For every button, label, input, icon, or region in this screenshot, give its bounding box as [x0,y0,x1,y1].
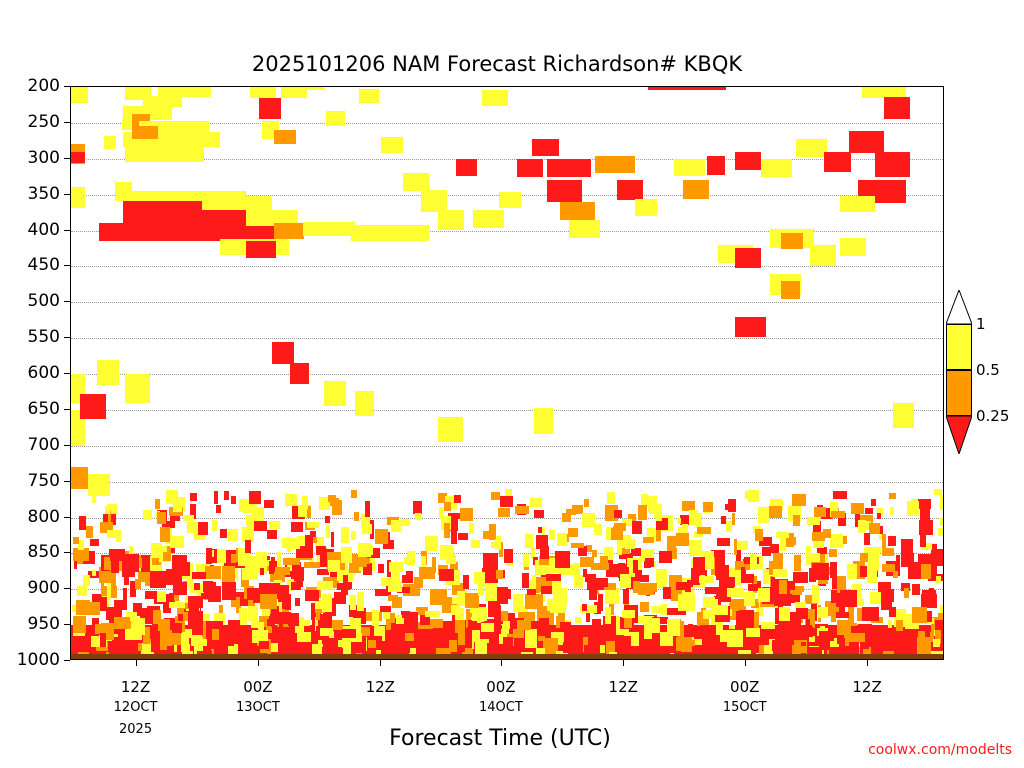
heatmap-cell [438,417,462,442]
heatmap-cell [741,567,745,582]
heatmap-cell [781,281,800,300]
heatmap-cell [303,222,355,236]
heatmap-cell [830,534,843,548]
heatmap-cell [391,623,404,635]
heatmap-cell [365,501,370,517]
heatmap-cell [438,210,464,230]
heatmap-cell [739,610,754,620]
y-tick-label: 750 [0,471,66,491]
heatmap-cell [538,636,546,642]
heatmap-cell [305,535,312,548]
heatmap-cell [840,590,857,607]
heatmap-cell [372,610,379,625]
heatmap-cell [285,594,291,609]
heatmap-cell [381,137,403,153]
heatmap-cell [254,521,267,531]
heatmap-cell [451,530,457,544]
heatmap-cell [890,507,894,515]
heatmap-cell [264,500,274,508]
heatmap-cell [725,504,732,511]
heatmap-cell [758,507,769,522]
heatmap-cell [638,584,654,595]
heatmap-cell [589,587,598,600]
heatmap-cell [534,408,553,433]
heatmap-cell [865,508,873,514]
heatmap-cell [463,575,469,588]
heatmap-cell [808,553,820,562]
x-tick-label: 12Z [366,678,395,696]
heatmap-cell [812,585,818,603]
heatmap-cell [770,544,778,553]
heatmap-cell [274,567,290,574]
heatmap-cell [454,495,462,503]
heatmap-cell [92,570,96,576]
heatmap-cell [697,527,711,534]
heatmap-cell [122,554,139,571]
colorbar-tick-label: 1 [976,315,986,333]
heatmap-cell [358,543,371,558]
heatmap-cell [322,502,331,510]
heatmap-cell [357,592,365,611]
heatmap-cell [502,589,511,599]
heatmap-cell [657,577,665,587]
heatmap-cell [847,564,857,579]
heatmap-cell [862,607,879,622]
heatmap-cell [214,640,230,654]
heatmap-cell [205,566,221,579]
heatmap-cell [452,597,461,604]
x-tick-label: 00Z [243,678,272,696]
heatmap-cell [279,620,283,627]
heatmap-cell [129,546,133,554]
heatmap-cell [517,620,531,630]
heatmap-cell [342,629,356,638]
heatmap-cell [214,491,218,503]
heatmap-cell [779,607,790,621]
heatmap-cell [744,592,756,606]
heatmap-cell [632,521,642,535]
heatmap-cell [582,513,595,527]
heatmap-cell [748,490,759,502]
heatmap-cell [546,574,562,580]
x-tick-label: 12Z [852,678,881,696]
heatmap-cell [202,196,272,210]
heatmap-cell [584,499,589,507]
heatmap-cell [781,233,803,249]
heatmap-cell [316,612,320,620]
heatmap-cell [896,555,900,570]
colorbar-bottom-arrow [946,416,972,454]
heatmap-cell [643,537,654,543]
heatmap-cell [594,524,602,536]
heatmap-cell [316,546,326,555]
heatmap-cell [851,503,864,513]
heatmap-cell [326,111,345,125]
heatmap-cell [717,538,730,545]
heatmap-cell [295,598,300,606]
heatmap-cell [187,522,199,533]
heatmap-cell [415,513,422,520]
heatmap-cell [169,602,184,608]
grid-line [71,374,943,376]
heatmap-cell [391,520,401,531]
heatmap-cell [500,611,508,622]
heatmap-cell [920,509,929,521]
heatmap-cell [940,495,944,510]
heatmap-cell [829,549,837,557]
heatmap-cell [499,192,521,208]
y-tick-label: 950 [0,614,66,634]
y-tick-mark [64,230,70,231]
heatmap-cell [889,607,896,617]
heatmap-cell [659,551,672,564]
heatmap-cell [761,159,792,178]
heatmap-cell [843,536,847,544]
heatmap-cell [614,510,622,518]
heatmap-cell [607,492,616,504]
heatmap-cell [473,210,504,228]
x-tick-mark [867,660,868,666]
heatmap-cell [645,558,654,567]
heatmap-cell [893,403,915,428]
heatmap-cell [79,516,86,529]
heatmap-cell [504,549,514,562]
chart-canvas: 2025101206 NAM Forecast Richardson# KBQK… [0,0,1024,768]
heatmap-cell [837,638,842,644]
heatmap-cell [541,586,552,594]
heatmap-cell [525,629,536,647]
heatmap-cell [405,633,413,640]
heatmap-cell [836,612,849,618]
heatmap-cell [934,489,942,495]
y-tick-label: 550 [0,327,66,347]
heatmap-cell [259,98,281,120]
heatmap-cell [274,223,305,239]
heatmap-cell [867,566,877,583]
heatmap-cell [840,238,866,257]
heatmap-cell [809,568,816,582]
heatmap-cell [334,592,346,604]
heatmap-cell [870,592,881,604]
heatmap-cell [936,576,941,582]
heatmap-cell [88,474,110,496]
x-tick-mark [501,660,502,666]
heatmap-cell [917,637,931,653]
y-tick-label: 900 [0,578,66,598]
heatmap-cell [651,618,659,633]
heatmap-cell [600,645,605,654]
heatmap-cell [290,626,295,639]
heatmap-cell [582,604,588,611]
heatmap-cell [388,595,399,601]
heatmap-cell [151,639,159,652]
heatmap-cell [605,588,619,604]
heatmap-cell [138,643,142,651]
heatmap-cell [574,575,583,589]
heatmap-cell [160,527,170,542]
heatmap-cell [132,126,158,139]
heatmap-cell [173,501,182,512]
heatmap-cell [324,381,346,406]
heatmap-cell [111,555,120,573]
colorbar-segment [946,324,972,370]
x-tick-sublabel: 12OCT [114,700,158,715]
heatmap-cell [925,592,931,604]
heatmap-cell [707,156,724,175]
heatmap-cell [680,640,695,647]
heatmap-cell [683,180,709,199]
heatmap-cell [871,499,876,506]
heatmap-cell [107,583,111,600]
grid-line [71,446,943,448]
heatmap-cell [444,523,450,538]
heatmap-cell [788,627,794,645]
heatmap-cell [938,528,944,536]
y-tick-label: 200 [0,76,66,96]
heatmap-cell [555,551,570,569]
heatmap-cell [290,363,309,385]
heatmap-cell [483,553,498,569]
heatmap-cell [648,496,657,511]
colorbar-segment [946,370,972,416]
heatmap-cell [920,532,926,547]
heatmap-cell [888,620,892,628]
heatmap-cell [831,616,836,622]
x-tick-mark [623,660,624,666]
heatmap-cell [595,156,634,173]
heatmap-cell [667,619,680,636]
heatmap-cell [285,494,297,506]
heatmap-cell [478,582,485,596]
heatmap-cell [401,519,410,526]
heatmap-cell [904,588,909,597]
heatmap-cell [552,580,560,593]
heatmap-cell [161,546,167,553]
heatmap-cell [131,618,145,635]
heatmap-cell [550,604,566,614]
heatmap-cell [851,626,867,633]
x-tick-mark [745,660,746,666]
heatmap-cell [105,506,110,514]
heatmap-cell [212,629,219,640]
heatmap-cell [814,507,827,518]
heatmap-cell [375,529,388,543]
heatmap-cell [594,578,608,587]
heatmap-cell [245,540,251,553]
heatmap-cell [331,532,335,547]
heatmap-cell [78,540,84,550]
heatmap-cell [260,568,264,575]
heatmap-cell [444,502,451,511]
grid-line [71,302,943,304]
colorbar-tick-label: 0.25 [976,407,1009,425]
heatmap-cell [935,620,944,630]
heatmap-cell [523,554,528,567]
heatmap-cell [355,391,374,416]
heatmap-cell [341,547,352,563]
heatmap-cell [882,534,886,549]
y-tick-mark [64,337,70,338]
heatmap-cell [726,521,732,531]
y-tick-mark [64,301,70,302]
heatmap-cell [732,513,736,525]
x-tick-sublabel: 15OCT [723,700,767,715]
heatmap-cell [566,509,577,515]
x-tick-sublabel: 14OCT [479,700,523,715]
heatmap-cell [539,618,549,626]
heatmap-cell [888,536,896,546]
heatmap-cell [755,529,763,541]
heatmap-cell [772,640,783,651]
y-tick-mark [64,445,70,446]
y-tick-mark [64,660,70,661]
heatmap-cell [793,515,799,526]
heatmap-cell [407,551,415,564]
heatmap-cell [80,394,106,419]
y-tick-mark [64,194,70,195]
heatmap-cell [864,547,881,553]
heatmap-cell [469,523,475,534]
y-tick-mark [64,517,70,518]
y-tick-mark [64,265,70,266]
ground-band [71,654,943,659]
heatmap-cell [239,608,247,625]
heatmap-cell [860,642,869,649]
heatmap-cell [341,527,349,543]
heatmap-cell [220,529,227,538]
heatmap-cell [328,560,340,572]
heatmap-cell [90,539,99,546]
heatmap-cell [496,570,503,579]
heatmap-cell [703,502,713,512]
heatmap-cell [498,508,510,517]
heatmap-cell [260,594,276,610]
x-tick-mark [258,660,259,666]
heatmap-cell [557,533,567,546]
heatmap-cell [188,596,203,608]
heatmap-cell [83,575,90,585]
heatmap-cell [482,90,508,106]
heatmap-cell [569,220,600,237]
heatmap-cell [727,588,744,597]
heatmap-cell [921,564,931,578]
heatmap-cell [735,317,766,337]
heatmap-cell [192,572,206,579]
heatmap-cell [591,563,608,569]
heatmap-cell [560,202,595,221]
y-tick-label: 400 [0,220,66,240]
heatmap-cell [114,617,130,628]
heatmap-cell [325,516,330,523]
heatmap-cell [111,586,118,598]
heatmap-cell [71,467,88,489]
heatmap-cell [525,534,533,548]
heatmap-cell [73,616,86,633]
heatmap-cell [322,638,338,644]
heatmap-cell [73,537,79,543]
heatmap-cell [837,620,850,635]
heatmap-cell [655,511,662,521]
y-tick-label: 700 [0,435,66,455]
heatmap-cell [224,491,229,500]
heatmap-cell [272,585,289,594]
y-tick-label: 250 [0,112,66,132]
heatmap-cell [71,187,85,207]
heatmap-cell [505,489,511,496]
heatmap-cell [611,528,623,540]
heatmap-cell [104,557,109,570]
heatmap-cell [430,619,443,628]
heatmap-cell [547,159,591,177]
x-tick-label: 12Z [121,678,150,696]
heatmap-cell [549,530,555,540]
heatmap-cell [439,569,453,581]
heatmap-cell [166,569,182,585]
heatmap-cell [911,499,918,513]
y-tick-label: 600 [0,363,66,383]
heatmap-cell [157,517,163,524]
heatmap-cell [107,530,120,539]
heatmap-cell [794,555,801,571]
heatmap-cell [216,505,221,513]
grid-line [71,266,943,268]
heatmap-cell [460,508,473,521]
heatmap-cell [689,540,702,555]
heatmap-cell [421,190,447,212]
heatmap-cell [736,541,748,550]
heatmap-cell [351,225,430,241]
heatmap-cell [773,569,788,576]
heatmap-cell [231,496,236,504]
heatmap-cell [889,493,897,499]
heatmap-cell [888,589,894,602]
heatmap-cell [689,510,697,525]
heatmap-cell [125,147,204,163]
heatmap-cell [170,536,183,548]
heatmap-cell [378,564,384,573]
colorbar-tick-label: 0.5 [976,361,1000,379]
heatmap-cell [530,498,543,507]
heatmap-cell [228,529,238,541]
heatmap-cell [287,537,291,552]
heatmap-cell [688,624,694,637]
heatmap-cell [153,610,161,624]
heatmap-cell [271,557,275,572]
heatmap-cell [419,567,435,578]
heatmap-cell [620,574,632,588]
heatmap-cell [720,630,731,642]
heatmap-cell [617,180,643,200]
heatmap-cell [304,562,320,568]
y-tick-mark [64,409,70,410]
heatmap-cell [155,499,159,509]
heatmap-cell [421,556,426,568]
heatmap-cell [250,86,276,98]
heatmap-cell [807,517,820,525]
heatmap-cell [780,537,786,552]
grid-line [71,338,943,340]
y-tick-mark [64,552,70,553]
heatmap-cell [403,173,429,191]
heatmap-cell [231,554,236,563]
heatmap-cell [359,89,378,103]
x-tick-label: 00Z [486,678,515,696]
heatmap-cell [178,614,183,620]
y-tick-label: 800 [0,507,66,527]
heatmap-cell [194,583,200,591]
heatmap-cell [631,548,641,556]
heatmap-cell [485,583,497,601]
